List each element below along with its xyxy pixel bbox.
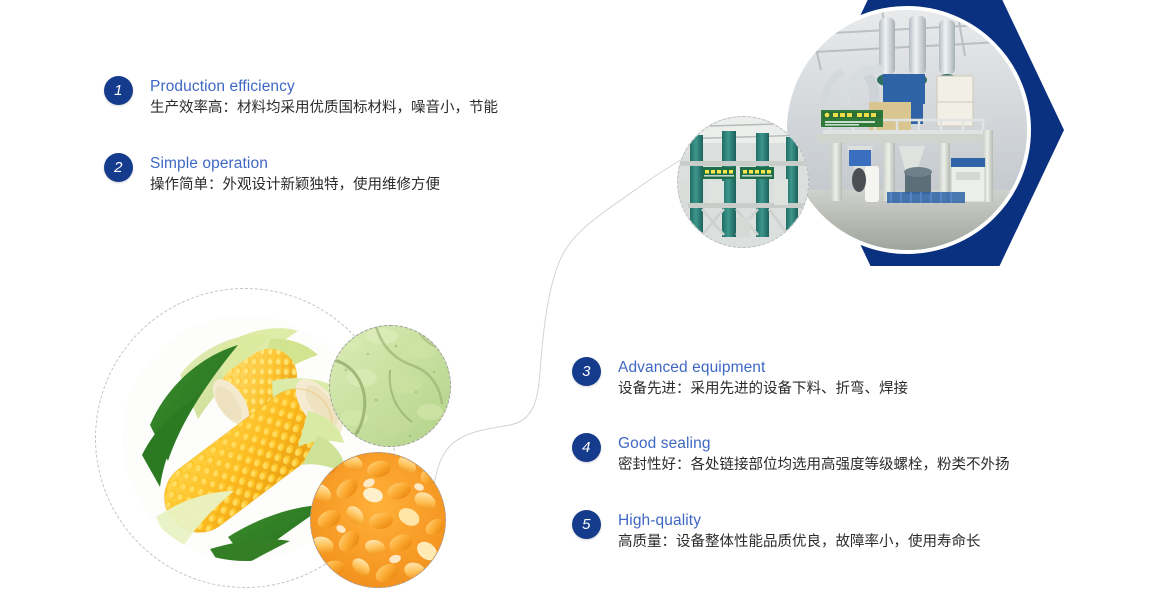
- feature-text-3: Advanced equipment 设备先进：采用先进的设备下料、折弯、焊接: [618, 357, 908, 400]
- feature-badge-4: 4: [572, 433, 601, 462]
- machinery-main-photo: [783, 6, 1031, 254]
- feature-badge-2: 2: [104, 153, 133, 182]
- feature-description-2: 操作简单：外观设计新颖独特，使用维修方便: [150, 175, 440, 196]
- feature-item-3: 3 Advanced equipment 设备先进：采用先进的设备下料、折弯、焊…: [572, 357, 908, 400]
- feature-badge-1: 1: [104, 76, 133, 105]
- feature-title-5: High-quality: [618, 511, 981, 530]
- corn-puree-photo: [329, 325, 451, 447]
- feature-badge-5: 5: [572, 510, 601, 539]
- feature-description-4: 密封性好：各处链接部位均选用高强度等级螺栓，粉类不外扬: [618, 455, 1010, 476]
- page-root: 1 Production efficiency 生产效率高：材料均采用优质国标材…: [0, 0, 1154, 591]
- feature-item-5: 5 High-quality 高质量：设备整体性能品质优良，故障率小，使用寿命长: [572, 510, 981, 553]
- feature-description-5: 高质量：设备整体性能品质优良，故障率小，使用寿命长: [618, 532, 981, 553]
- feature-item-2: 2 Simple operation 操作简单：外观设计新颖独特，使用维修方便: [104, 153, 440, 196]
- feature-text-2: Simple operation 操作简单：外观设计新颖独特，使用维修方便: [150, 153, 440, 196]
- feature-item-4: 4 Good sealing 密封性好：各处链接部位均选用高强度等级螺栓，粉类不…: [572, 433, 1010, 476]
- feature-text-5: High-quality 高质量：设备整体性能品质优良，故障率小，使用寿命长: [618, 510, 981, 553]
- feature-text-1: Production efficiency 生产效率高：材料均采用优质国标材料，…: [150, 76, 498, 119]
- feature-title-3: Advanced equipment: [618, 358, 908, 377]
- feature-title-2: Simple operation: [150, 154, 440, 173]
- corn-kernels-photo: [310, 452, 446, 588]
- machinery-secondary-photo: [677, 116, 809, 248]
- feature-title-4: Good sealing: [618, 434, 1010, 453]
- feature-item-1: 1 Production efficiency 生产效率高：材料均采用优质国标材…: [104, 76, 498, 119]
- feature-badge-3: 3: [572, 357, 601, 386]
- feature-description-3: 设备先进：采用先进的设备下料、折弯、焊接: [618, 379, 908, 400]
- feature-text-4: Good sealing 密封性好：各处链接部位均选用高强度等级螺栓，粉类不外扬: [618, 433, 1010, 476]
- feature-description-1: 生产效率高：材料均采用优质国标材料，噪音小，节能: [150, 98, 498, 119]
- feature-title-1: Production efficiency: [150, 77, 498, 96]
